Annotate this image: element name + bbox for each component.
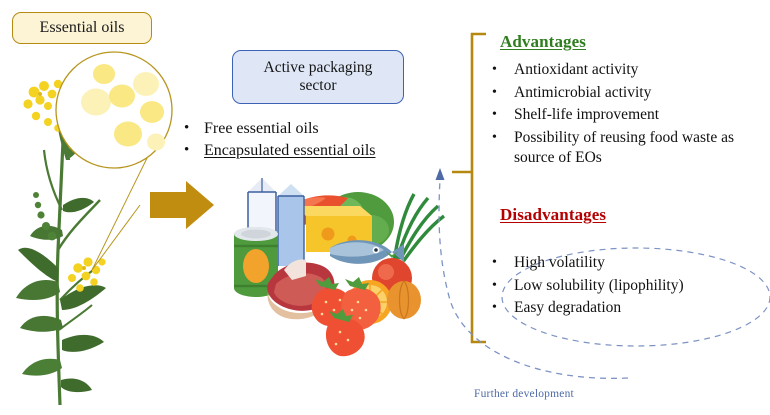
further-development-annotation: Further development [474,388,574,400]
bullet-icon: • [492,105,514,125]
list-item: • Easy degradation [492,298,770,319]
sector-label-line2: sector [299,77,336,95]
advantages-heading: Advantages [500,32,586,52]
bullet-icon: • [492,128,514,148]
list-item: • Antimicrobial activity [492,83,770,104]
bullet-icon: • [492,298,514,318]
mustard-plant-icon [16,78,133,405]
disadvantages-list: • High volatility • Low solubility (lipo… [492,253,770,321]
active-packaging-sector-box[interactable]: Active packaging sector [232,50,404,104]
food-products-icon [234,178,444,356]
list-item-label: Antioxidant activity [514,60,770,81]
bullet-icon: • [184,118,204,138]
gold-bracket-icon [452,34,486,342]
essential-oil-type-list: • Free essential oils • Encapsulated ess… [184,118,474,162]
gold-block-arrow-icon [150,181,214,229]
essential-oils-box[interactable]: Essential oils [12,12,152,44]
list-item-label: Free essential oils [204,118,319,140]
list-item: • Shelf-life improvement [492,105,770,126]
list-item-label: Easy degradation [514,298,770,319]
figure-canvas: Essential oils Active packaging sector •… [0,0,770,415]
list-item-label: Encapsulated essential oils [204,140,376,162]
oil-droplets-magnifier-icon [56,52,172,270]
disadvantages-heading: Disadvantages [500,205,606,225]
list-item-label: Possibility of reusing food waste as sou… [514,128,770,169]
bullet-icon: • [492,276,514,296]
list-item: • Possibility of reusing food waste as s… [492,128,770,169]
list-item-label: Antimicrobial activity [514,83,770,104]
list-item: • Low solubility (lipophility) [492,276,770,297]
advantages-list: • Antioxidant activity • Antimicrobial a… [492,60,770,171]
bullet-icon: • [492,60,514,80]
list-item-label: Shelf-life improvement [514,105,770,126]
list-item-label: Low solubility (lipophility) [514,276,770,297]
list-item[interactable]: • Encapsulated essential oils [184,140,474,162]
flower-cluster-lower [68,257,106,291]
sector-label-line1: Active packaging [264,59,373,77]
list-item: • High volatility [492,253,770,274]
bullet-icon: • [492,83,514,103]
bullet-icon: • [184,140,204,160]
bullet-icon: • [492,253,514,273]
list-item[interactable]: • Free essential oils [184,118,474,140]
essential-oils-label: Essential oils [40,19,125,37]
list-item: • Antioxidant activity [492,60,770,81]
list-item-label: High volatility [514,253,770,274]
